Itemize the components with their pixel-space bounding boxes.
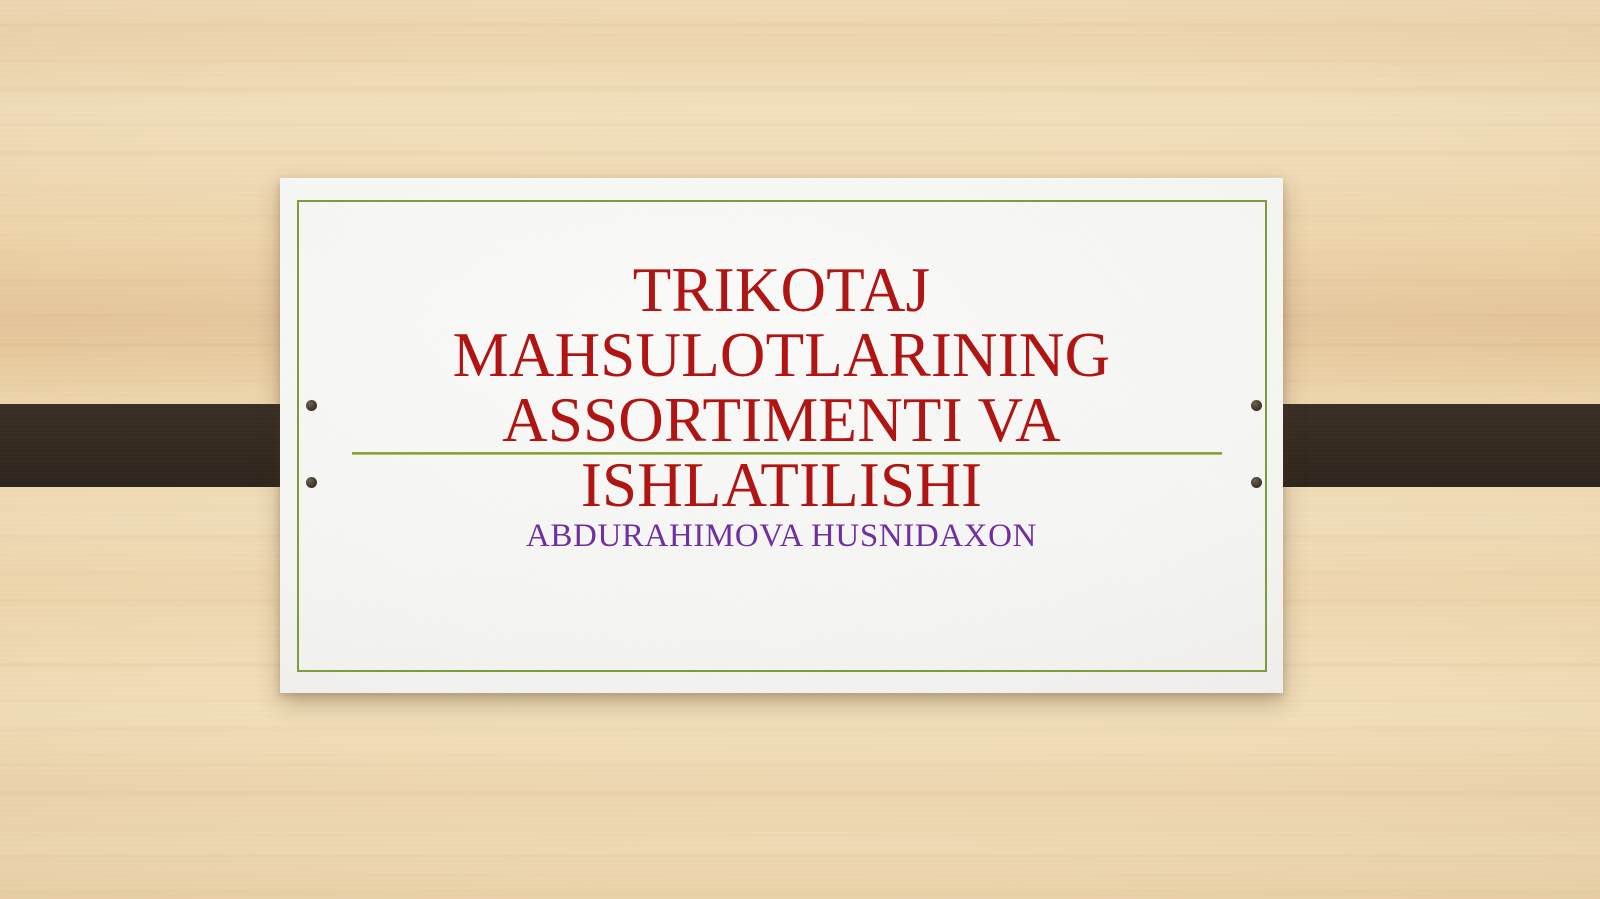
title-divider-line xyxy=(352,452,1222,455)
ribbon-stud-right-bottom xyxy=(1251,477,1262,488)
presentation-slide: TRIKOTAJ MAHSULOTLARINING ASSORTIMENTI V… xyxy=(0,0,1600,899)
ribbon-stud-left-top xyxy=(306,400,317,411)
ribbon-stud-left-bottom xyxy=(306,477,317,488)
ribbon-stud-right-top xyxy=(1251,400,1262,411)
title-card: TRIKOTAJ MAHSULOTLARINING ASSORTIMENTI V… xyxy=(280,178,1283,693)
title-container: TRIKOTAJ MAHSULOTLARINING ASSORTIMENTI V… xyxy=(304,258,1259,518)
subtitle-container: ABDURAHIMOVA HUSNIDAXON xyxy=(304,518,1259,555)
slide-subtitle-author: ABDURAHIMOVA HUSNIDAXON xyxy=(304,518,1259,555)
slide-title: TRIKOTAJ MAHSULOTLARINING ASSORTIMENTI V… xyxy=(304,258,1259,518)
